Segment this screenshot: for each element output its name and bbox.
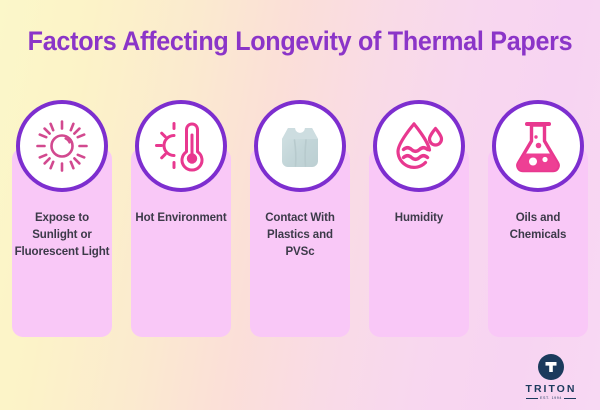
infographic-canvas: Factors Affecting Longevity of Thermal P… (0, 0, 600, 410)
card-label: Humidity (371, 210, 467, 227)
factor-card-humidity[interactable]: Humidity (369, 100, 469, 338)
triton-logo-mark (538, 354, 564, 380)
page-title: Factors Affecting Longevity of Thermal P… (21, 26, 579, 57)
brand-logo[interactable]: TRITON EST. 1994 (520, 354, 582, 400)
tagline-rule-left (526, 398, 538, 399)
logo-wordmark: TRITON (520, 383, 582, 395)
factor-card-sunlight[interactable]: Expose to Sunlight or Fluorescent Light (12, 100, 112, 338)
icon-circle (254, 100, 346, 192)
water-droplet-icon (388, 115, 450, 177)
plastic-bag-icon (270, 116, 330, 176)
icon-circle (492, 100, 584, 192)
card-label: Expose to Sunlight or Fluorescent Light (14, 210, 110, 261)
logo-tagline: EST. 1994 (520, 396, 582, 400)
thermometer-sun-icon (150, 115, 212, 177)
factor-card-hot-environment[interactable]: Hot Environment (131, 100, 231, 338)
icon-circle (135, 100, 227, 192)
tagline-text: EST. 1994 (540, 396, 562, 400)
sun-icon (31, 115, 93, 177)
triton-t-icon (543, 359, 559, 375)
card-label: Oils and Chemicals (490, 210, 586, 244)
card-label: Contact With Plastics and PVSc (252, 210, 348, 261)
factor-card-chemicals[interactable]: Oils and Chemicals (488, 100, 588, 338)
tagline-rule-right (564, 398, 576, 399)
factor-card-plastics[interactable]: Contact With Plastics and PVSc (250, 100, 350, 338)
flask-icon (509, 115, 567, 177)
icon-circle (16, 100, 108, 192)
card-label: Hot Environment (133, 210, 229, 227)
factor-card-row: Expose to Sunlight or Fluorescent Light (12, 100, 588, 340)
icon-circle (373, 100, 465, 192)
